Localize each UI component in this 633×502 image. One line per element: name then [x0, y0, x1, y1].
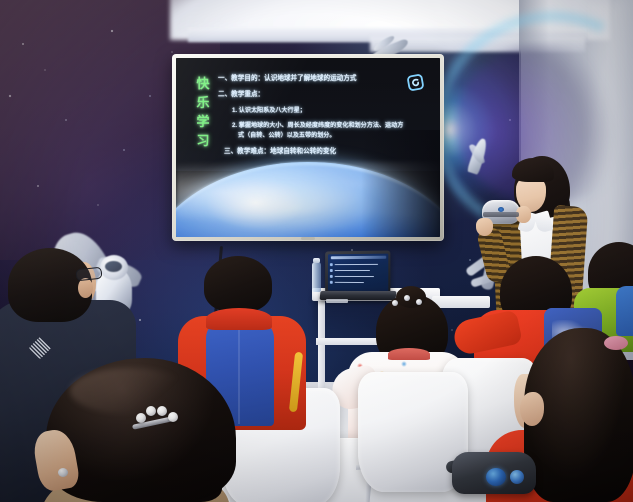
- laptop-list-row-4: [334, 281, 363, 283]
- vr-lens-left-icon: [486, 468, 506, 486]
- man-left-ear: [78, 278, 93, 298]
- motto-char-3: 学: [192, 112, 214, 131]
- motto-char-4: 习: [192, 131, 214, 150]
- laptop-list-icon-4: [330, 280, 333, 283]
- woman-front-hair-sheen: [70, 368, 190, 414]
- boy-center-hair: [204, 256, 272, 312]
- laptop-list-row-1: [334, 263, 377, 265]
- hair-clip-pearl-4: [168, 412, 178, 422]
- motto-char-2: 乐: [192, 93, 214, 112]
- display-panel: 快 乐 学 习 一、教学目的：认识地球并了解地球的运动方式 二、教学重点： 1.…: [176, 58, 440, 237]
- handheld-device-indicator-icon: [498, 207, 504, 212]
- laptop-list-icon-2: [330, 269, 333, 272]
- laptop-list-icon-3: [330, 274, 333, 277]
- girl-podium-hair-clip-2: [404, 295, 410, 301]
- slide-line-2: 二、教学重点：: [218, 90, 432, 100]
- finger-ring: [58, 468, 68, 477]
- laptop-list-row-2: [334, 269, 369, 271]
- vr-lens-right-icon: [510, 470, 524, 484]
- presenter-bangs: [512, 158, 554, 182]
- screen-bottom-marker: [301, 237, 315, 240]
- laptop-list-icon-1: [330, 263, 333, 266]
- motto-char-1: 快: [192, 74, 214, 93]
- girl-podium-hair-bun: [396, 286, 426, 308]
- classroom-scene: 快 乐 学 习 一、教学目的：认识地球并了解地球的运动方式 二、教学重点： 1.…: [0, 0, 633, 502]
- girl-podium-collar: [388, 348, 430, 360]
- side-table: [432, 296, 490, 308]
- presenter-hand-left: [476, 218, 493, 236]
- boy-far-right-jacket-blue-panel: [616, 286, 633, 336]
- slide-line-5: 式（自转、公转）以及五带的划分。: [238, 131, 432, 140]
- boy-center-collar: [206, 308, 272, 330]
- laptop-lid[interactable]: [325, 250, 390, 293]
- water-bottle-cap: [313, 258, 320, 263]
- hair-clip-pearl-1: [136, 413, 146, 423]
- slide-content: 快 乐 学 习 一、教学目的：认识地球并了解地球的运动方式 二、教学重点： 1.…: [176, 58, 440, 237]
- slide-line-6: 三、教学难点：地球自转和公转的变化: [224, 147, 432, 157]
- slide-body-text: 一、教学目的：认识地球并了解地球的运动方式 二、教学重点： 1. 认识太阳系及八…: [218, 74, 432, 157]
- girl-podium-hair-clip-3: [416, 299, 422, 305]
- water-bottle: [312, 262, 321, 292]
- spiral-brand-logo-icon: [407, 74, 424, 91]
- mouse-pad: [326, 299, 348, 303]
- laptop-screen: [328, 253, 388, 291]
- slide-vertical-motto: 快 乐 学 习: [192, 74, 214, 150]
- handheld-device-band: [483, 212, 519, 217]
- slide-line-3: 1. 认识太阳系及八大行星；: [232, 106, 432, 115]
- laptop-title-bar: [330, 256, 385, 260]
- girl-podium-hair-clip-1: [392, 300, 398, 306]
- girl-foreground-hair-tie: [604, 336, 628, 350]
- girl-foreground-ear: [520, 392, 544, 426]
- slide-line-1: 一、教学目的：认识地球并了解地球的运动方式: [218, 74, 432, 84]
- podium-leg-left: [318, 300, 325, 396]
- wall-display-screen[interactable]: 快 乐 学 习 一、教学目的：认识地球并了解地球的运动方式 二、教学重点： 1.…: [172, 54, 444, 241]
- hair-clip-pearl-3: [157, 406, 167, 416]
- astronaut-visor: [105, 261, 122, 272]
- hair-clip-pearl-2: [146, 406, 156, 416]
- boy-center-jacket-seam: [238, 324, 240, 424]
- laptop-list-row-3: [334, 275, 373, 277]
- slide-line-4: 2. 掌握地球的大小、周长及经度纬度的变化和划分方法、运动方: [232, 121, 432, 130]
